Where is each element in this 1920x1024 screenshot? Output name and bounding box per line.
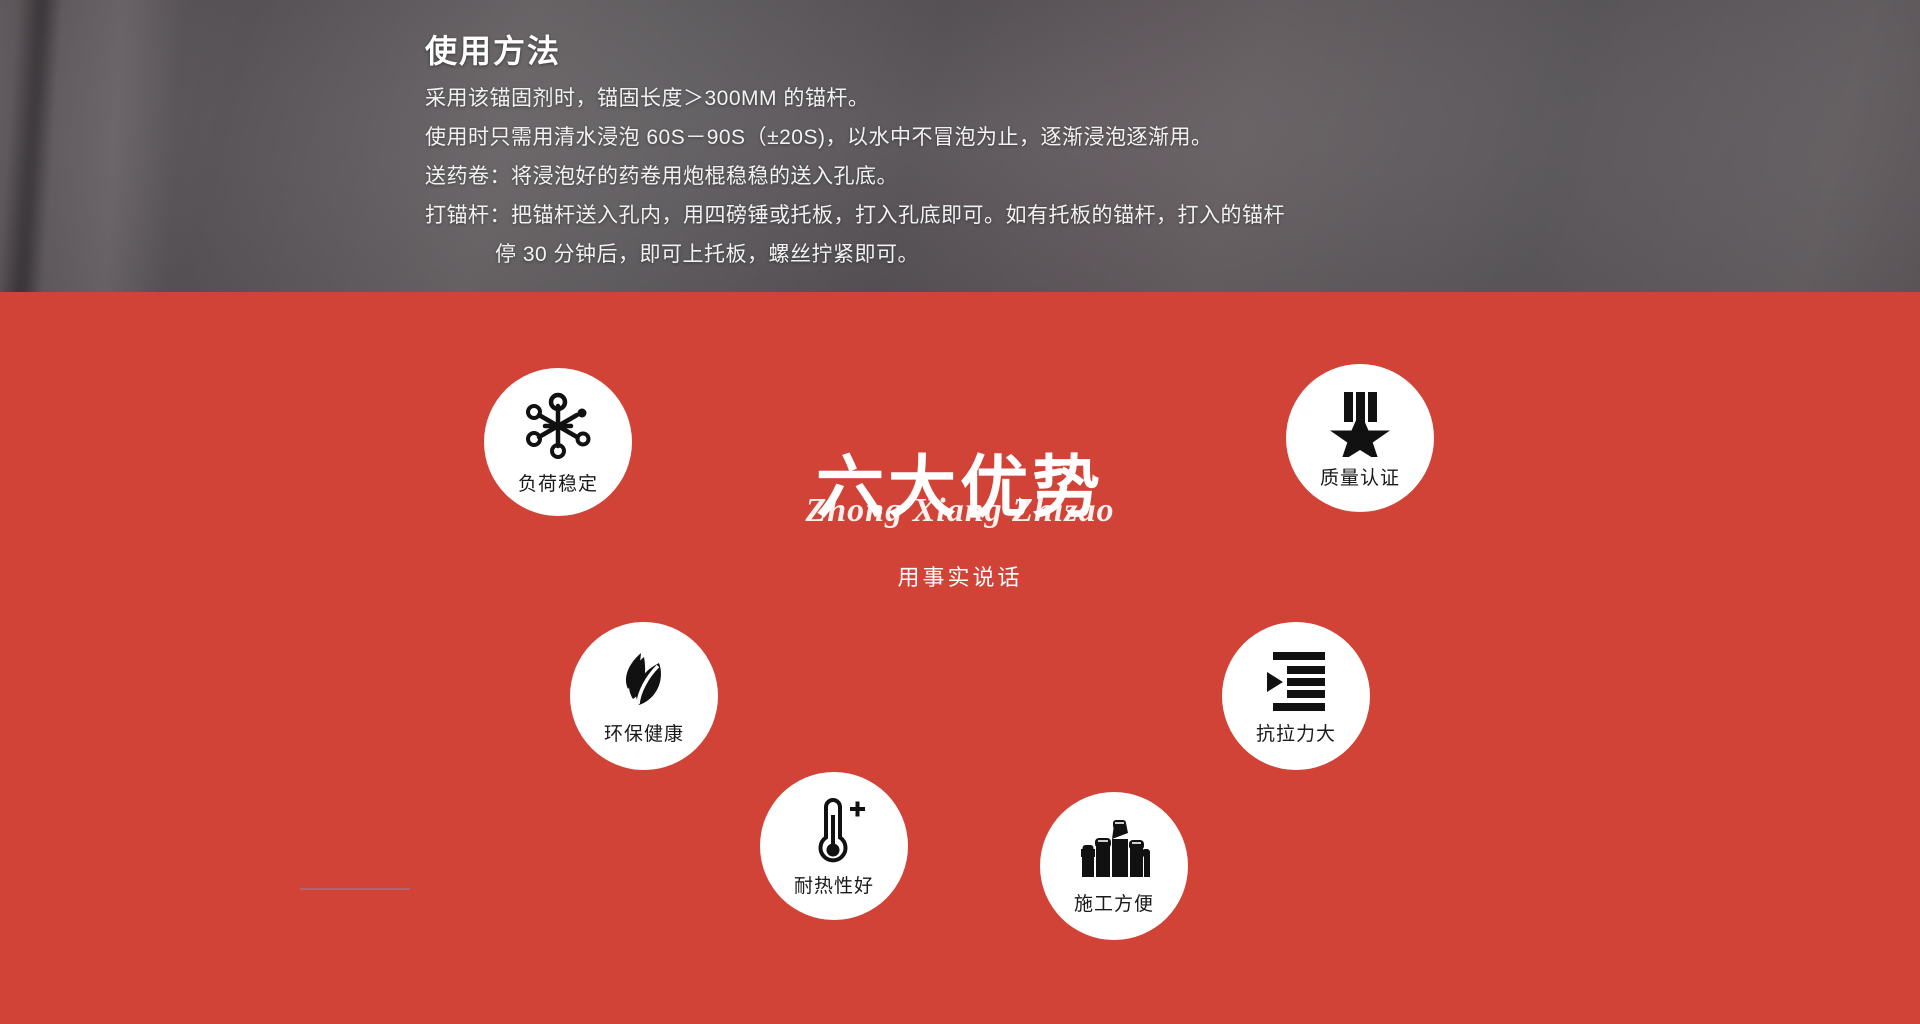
usage-method-header: 使用方法 采用该锚固剂时，锚固长度＞300MM 的锚杆。 使用时只需用清水浸泡 … xyxy=(0,0,1920,292)
leaves-icon xyxy=(611,647,677,713)
advantages-title: 六大优势 xyxy=(0,452,1920,524)
usage-line: 停 30 分钟后，即可上托板，螺丝拧紧即可。 xyxy=(425,235,1525,274)
usage-line: 采用该锚固剂时，锚固长度＞300MM 的锚杆。 xyxy=(425,79,1525,118)
advantage-badge-easy-construction[interactable]: 施工方便 xyxy=(1040,792,1188,940)
advantage-label: 抗拉力大 xyxy=(1256,719,1336,746)
advantage-label: 施工方便 xyxy=(1074,889,1154,916)
advantages-tagline: 用事实说话 xyxy=(0,560,1920,592)
six-advantages-section: 六大优势 Zhong Xiang Zhizao 用事实说话 xyxy=(0,292,1920,1024)
pull-arrow-lines-icon xyxy=(1261,647,1331,713)
advantages-heading-block: 六大优势 Zhong Xiang Zhizao 用事实说话 xyxy=(0,452,1920,524)
advantage-label: 环保健康 xyxy=(604,719,684,746)
header-text-block: 使用方法 采用该锚固剂时，锚固长度＞300MM 的锚杆。 使用时只需用清水浸泡 … xyxy=(0,0,1920,292)
advantage-badge-heat-resistance[interactable]: 耐热性好 xyxy=(760,772,908,920)
page-title: 使用方法 xyxy=(425,26,561,72)
usage-line: 送药卷：将浸泡好的药卷用炮棍稳稳的送入孔底。 xyxy=(425,157,1525,196)
usage-line: 打锚杆：把锚杆送入孔内，用四磅锤或托板，打入孔底即可。如有托板的锚杆，打入的锚杆 xyxy=(425,196,1525,235)
advantage-badge-tensile-strength[interactable]: 抗拉力大 xyxy=(1222,622,1370,770)
raised-fists-icon xyxy=(1078,817,1150,883)
thermometer-plus-icon xyxy=(799,795,869,865)
advantage-label: 耐热性好 xyxy=(794,871,874,898)
usage-instructions-list: 采用该锚固剂时，锚固长度＞300MM 的锚杆。 使用时只需用清水浸泡 60S－9… xyxy=(425,79,1525,274)
usage-line: 使用时只需用清水浸泡 60S－90S（±20S)，以水中不冒泡为止，逐渐浸泡逐渐… xyxy=(425,118,1525,157)
decorative-line xyxy=(300,888,410,890)
advantage-badge-eco-health[interactable]: 环保健康 xyxy=(570,622,718,770)
medal-star-icon xyxy=(1325,387,1395,457)
